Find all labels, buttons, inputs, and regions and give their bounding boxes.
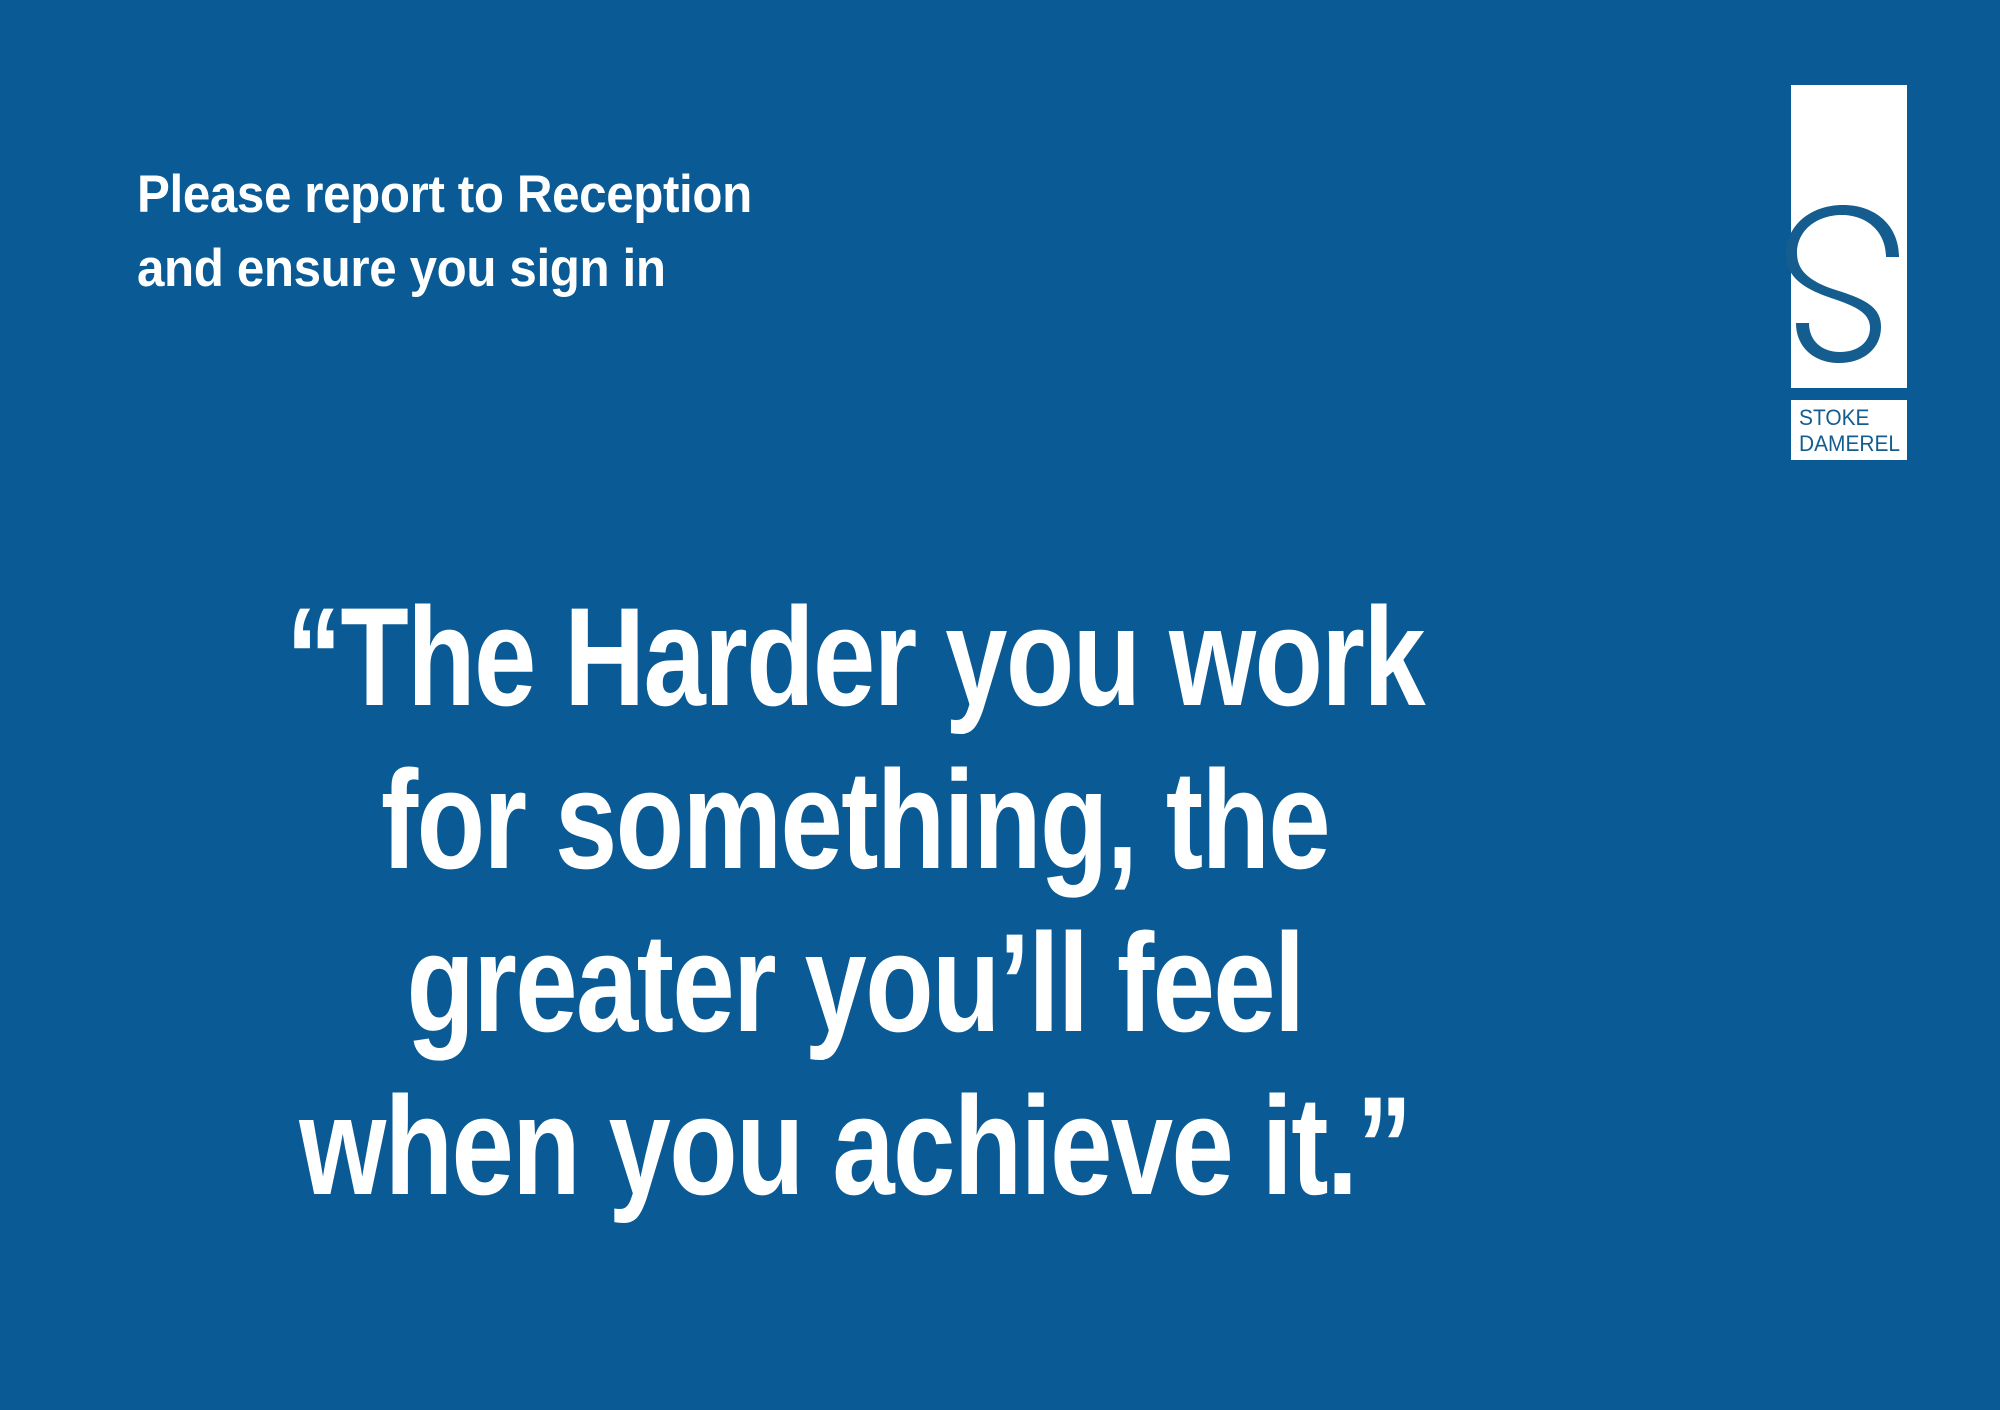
logo-name-line-1: STOKE bbox=[1799, 405, 1901, 431]
quote-line-4: when you achieve it.” bbox=[171, 1064, 1539, 1227]
logo-name-line-2: DAMEREL bbox=[1799, 431, 1901, 457]
quote-line-1: “The Harder you work bbox=[171, 575, 1539, 738]
quote-line-2: for something, the bbox=[171, 738, 1539, 901]
reception-notice-line-2: and ensure you sign in bbox=[137, 232, 1067, 306]
quote-line-3: greater you’ll feel bbox=[171, 901, 1539, 1064]
logo-name-box: STOKE DAMEREL bbox=[1791, 400, 1907, 460]
motivational-quote: “The Harder you work for something, the … bbox=[0, 575, 2000, 1227]
poster-canvas: Please report to Reception and ensure yo… bbox=[0, 0, 2000, 1410]
reception-notice-line-1: Please report to Reception bbox=[137, 158, 1067, 232]
logo-s-icon bbox=[1785, 205, 1915, 405]
stoke-damerel-logo: STOKE DAMEREL bbox=[1785, 85, 1915, 465]
reception-notice: Please report to Reception and ensure yo… bbox=[137, 158, 1067, 306]
